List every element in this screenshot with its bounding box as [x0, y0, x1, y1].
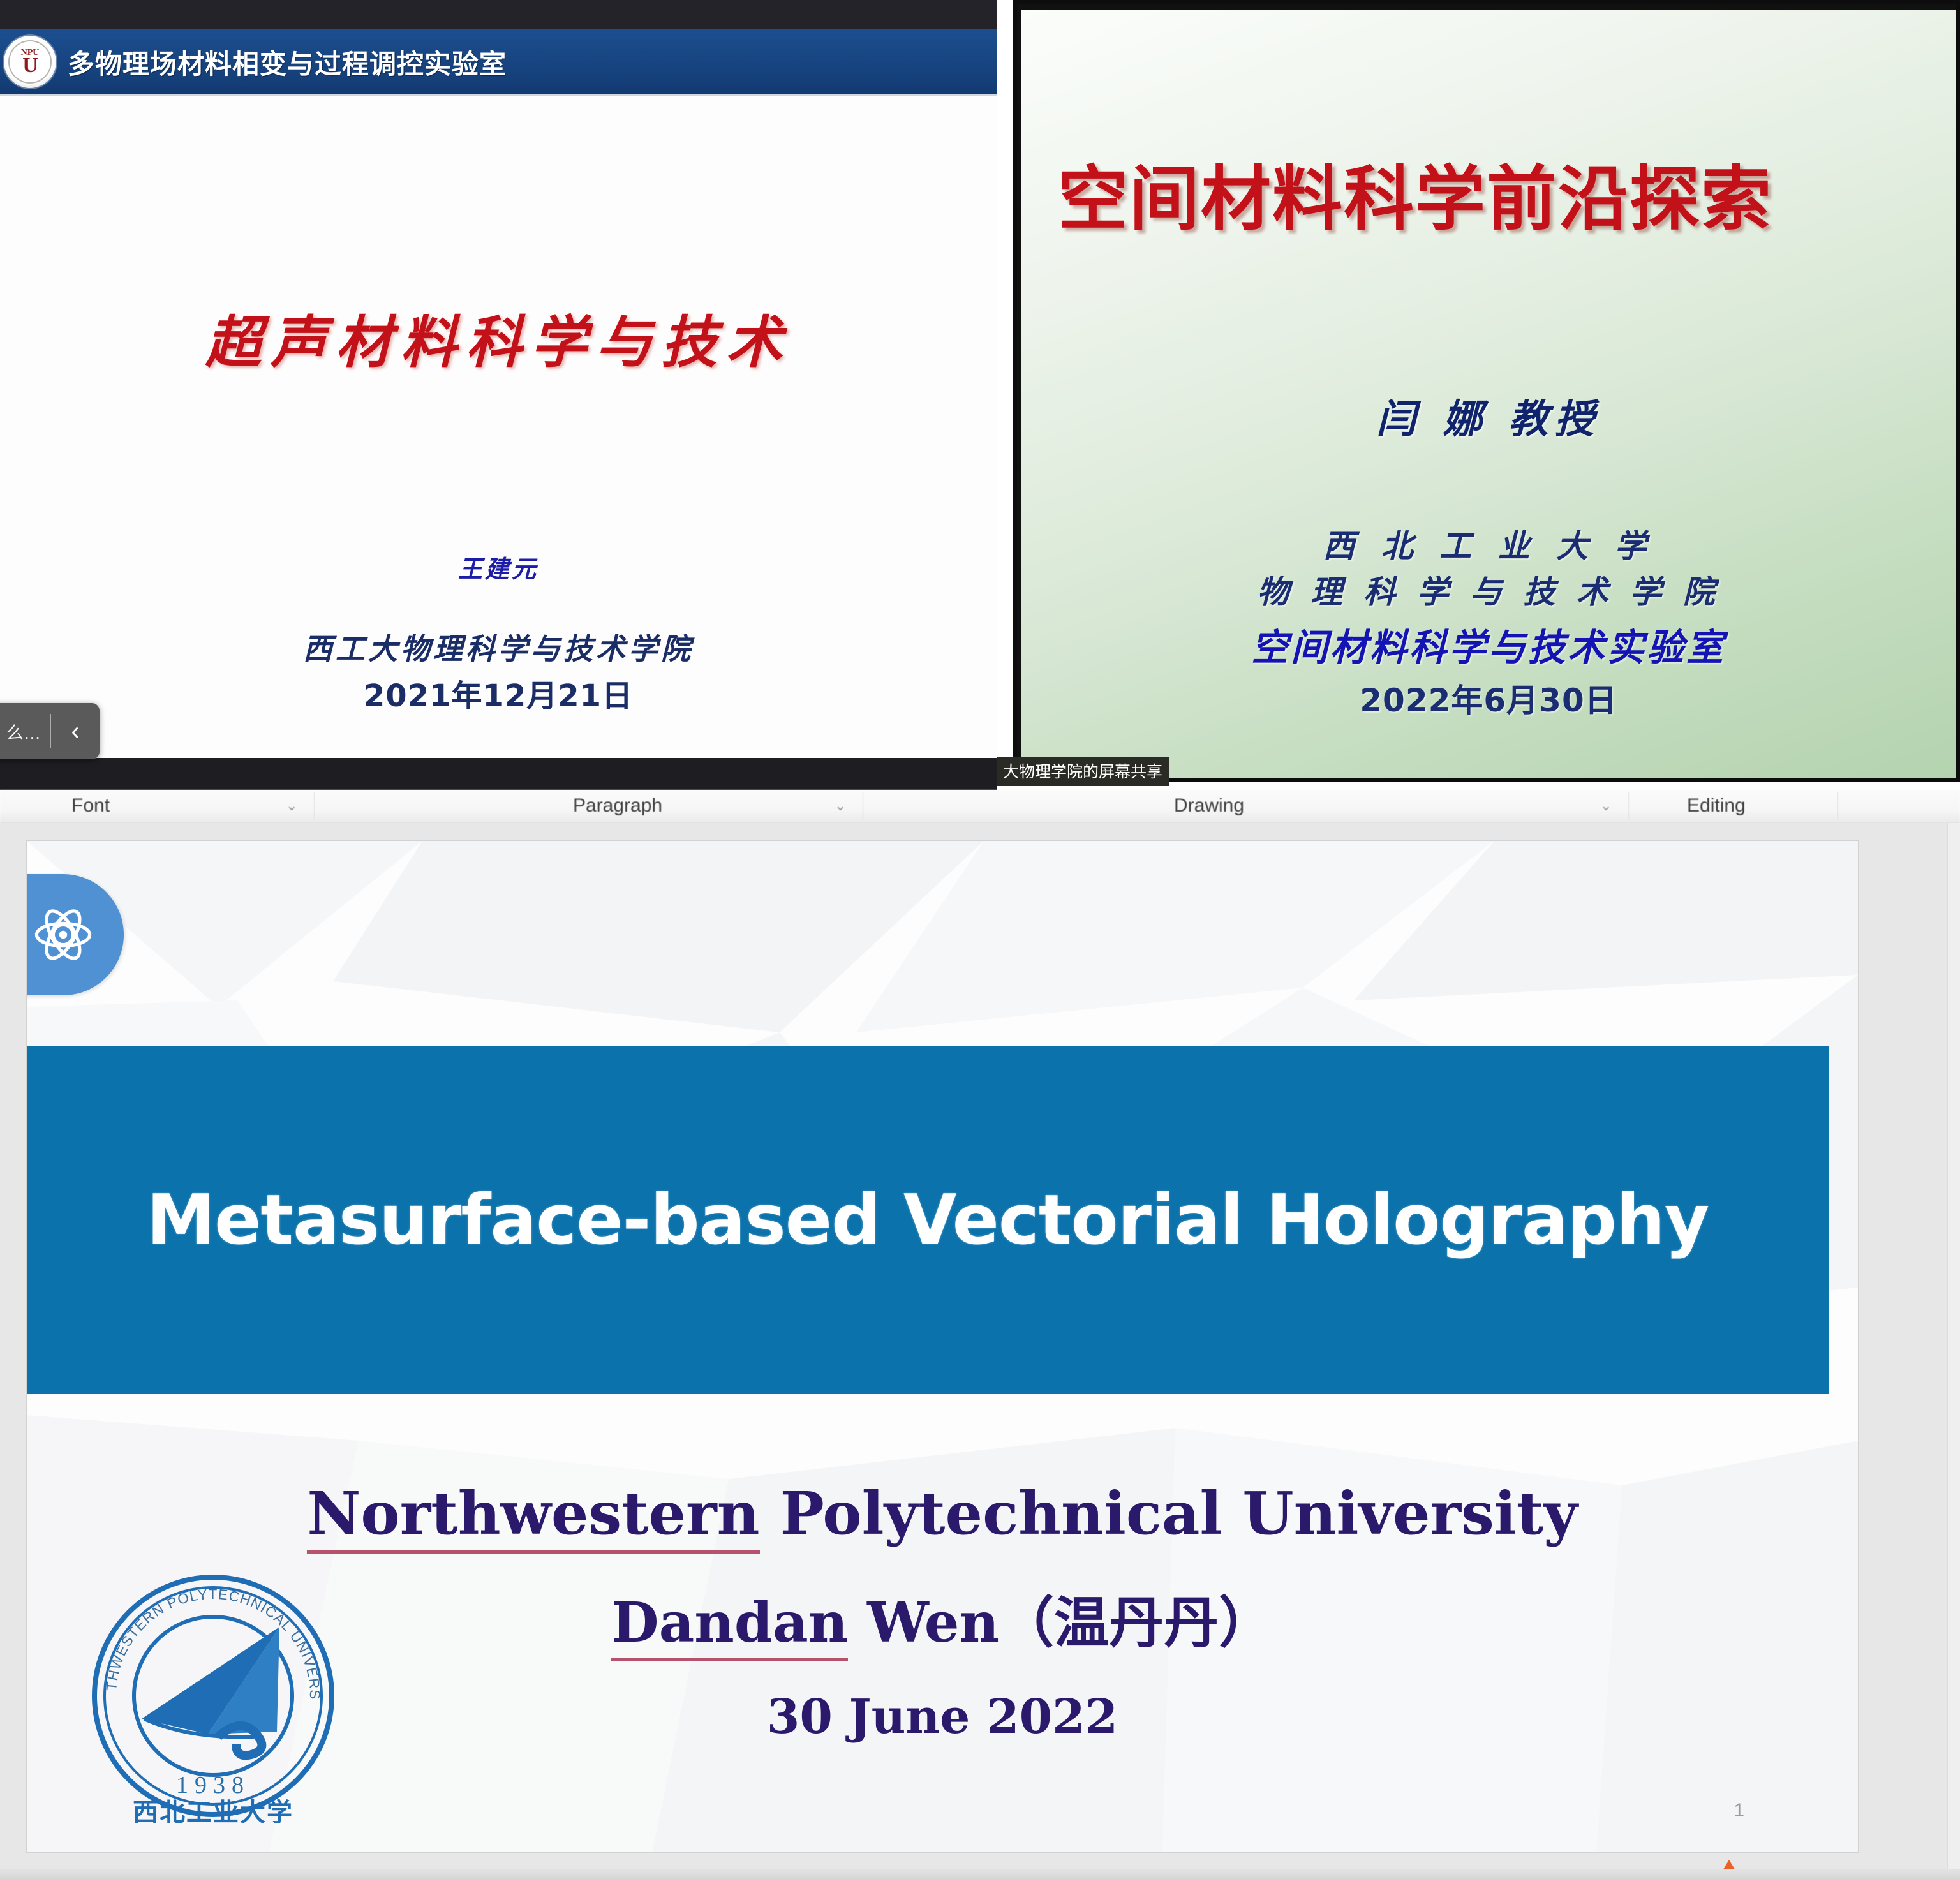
slide-canvas[interactable]: Metasurface-based Vectorial Holography N… — [27, 841, 1858, 1852]
slide2-speaker: 闫 娜 教授 — [1021, 387, 1956, 444]
seal-inner-chinese: 西北工业大学 — [133, 1798, 293, 1823]
shared-slide-ultrasonic: NPU U 多物理场材料相变与过程调控实验室 超声材料科学与技术 王建元 西工大… — [0, 29, 997, 758]
video-tile-left[interactable]: NPU U 多物理场材料相变与过程调控实验室 超声材料科学与技术 王建元 西工大… — [0, 0, 997, 790]
slide2-main-title: 空间材料科学前沿探索 — [1058, 142, 1772, 244]
slide1-affiliation: 西工大物理科学与技术学院 — [0, 626, 997, 668]
slide2-lab-name: 空间材料科学与技术实验室 — [1021, 618, 1956, 671]
ribbon-group-editing: Editing — [1687, 795, 1746, 817]
presenter-underlined-part: Dandan — [611, 1591, 848, 1661]
video-tile-right[interactable]: 空间材料科学前沿探索 闫 娜 教授 西 北 工 业 大 学 物 理 科 学 与 … — [1013, 0, 1960, 782]
slide1-author: 王建元 — [0, 549, 997, 584]
slide-presenter-line: Dandan Wen（温丹丹） — [27, 1578, 1858, 1658]
slide1-main-title: 超声材料科学与技术 — [0, 297, 997, 378]
slide1-body: 超声材料科学与技术 王建元 西工大物理科学与技术学院 2021年12月21日 — [0, 96, 997, 758]
slide2-affiliation-line-2: 物 理 科 学 与 技 术 学 院 — [1021, 567, 1956, 613]
tile-letterbox-top — [0, 0, 997, 29]
tile-toolbar-label: 么… — [0, 719, 50, 744]
slide1-date: 2021年12月21日 — [0, 671, 997, 715]
ribbon-divider — [314, 792, 315, 819]
slide-number: 1 — [1734, 1800, 1744, 1822]
slide2-date: 2022年6月30日 — [1021, 675, 1956, 721]
university-rest: Polytechnical University — [760, 1479, 1578, 1548]
seal-founding-year: 1938 — [176, 1772, 250, 1799]
slide2-affiliation-line-1: 西 北 工 业 大 学 — [1021, 521, 1956, 567]
ribbon-divider — [1837, 792, 1838, 819]
powerpoint-slide-editing-area[interactable]: Metasurface-based Vectorial Holography N… — [0, 823, 1960, 1879]
slide-title-text: Metasurface-based Vectorial Holography — [27, 1180, 1829, 1260]
university-underlined-part: Northwestern — [307, 1479, 759, 1554]
shared-slide-space-materials: 空间材料科学前沿探索 闫 娜 教授 西 北 工 业 大 学 物 理 科 学 与 … — [1021, 10, 1956, 778]
powerpoint-ribbon-group-row[interactable]: Font ⌄ Paragraph ⌄ Drawing ⌄ Editing — [0, 790, 1960, 823]
slide-title-band[interactable]: Metasurface-based Vectorial Holography — [27, 1046, 1829, 1394]
ribbon-divider — [1628, 792, 1629, 819]
vertical-scrollbar[interactable] — [1947, 823, 1960, 1879]
atom-icon — [30, 902, 96, 968]
nwpu-circle-logo-icon: NPU U — [4, 36, 56, 88]
tile-floating-toolbar[interactable]: 么… ‹ — [0, 703, 100, 759]
slide-university-line: Northwestern Polytechnical University — [27, 1479, 1858, 1548]
screen-share-badge: 大物理学院的屏幕共享 — [997, 757, 1169, 786]
dialog-launcher-icon-font[interactable]: ⌄ — [286, 798, 297, 814]
status-bar — [0, 1869, 1960, 1879]
ribbon-divider — [863, 792, 863, 819]
ribbon-group-font: Font — [71, 795, 110, 817]
ribbon-group-drawing: Drawing — [1174, 795, 1244, 817]
video-tile-row: NPU U 多物理场材料相变与过程调控实验室 超声材料科学与技术 王建元 西工大… — [0, 0, 1960, 791]
logo-letter: U — [22, 54, 38, 77]
slide-date-line: 30 June 2022 — [27, 1690, 1858, 1744]
ribbon-group-paragraph: Paragraph — [573, 795, 662, 817]
lab-banner-text: 多物理场材料相变与过程调控实验室 — [68, 43, 507, 82]
presenter-rest: Wen（温丹丹） — [848, 1591, 1273, 1655]
dialog-launcher-icon-paragraph[interactable]: ⌄ — [835, 798, 846, 814]
dialog-launcher-icon-drawing[interactable]: ⌄ — [1600, 798, 1612, 814]
screen-capture-stage: NPU U 多物理场材料相变与过程调控实验室 超声材料科学与技术 王建元 西工大… — [0, 0, 1960, 1879]
chevron-left-icon[interactable]: ‹ — [51, 703, 100, 759]
lab-banner: NPU U 多物理场材料相变与过程调控实验室 — [0, 29, 997, 96]
